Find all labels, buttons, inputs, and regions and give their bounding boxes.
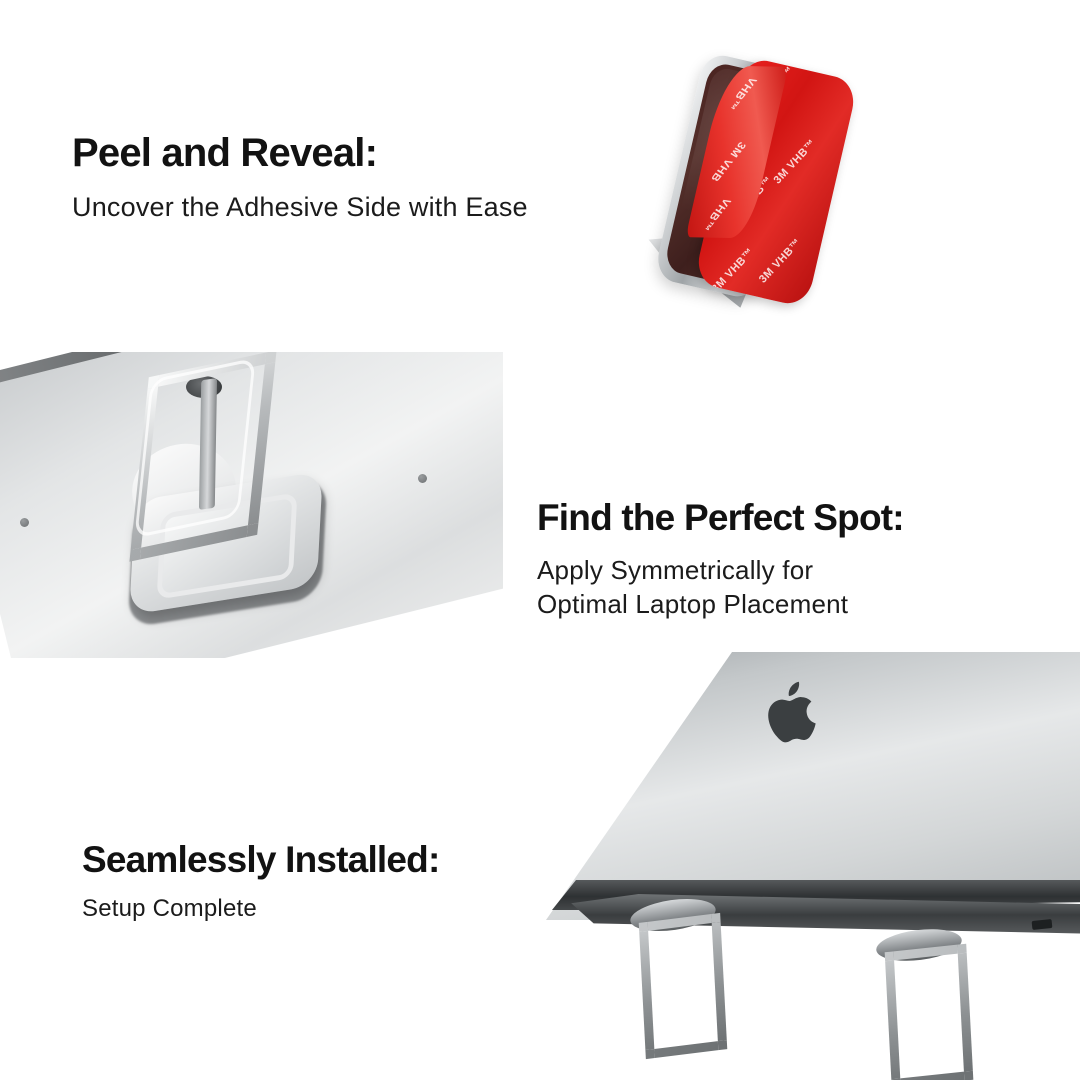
step-peel-subtitle: Uncover the Adhesive Side with Ease — [72, 191, 528, 225]
step-installed-subtitle: Setup Complete — [82, 894, 440, 924]
step-position-subtitle-line2: Optimal Laptop Placement — [537, 588, 904, 621]
stand-leg-deployed-left — [639, 913, 728, 1059]
panel-screw — [20, 518, 29, 527]
step-peel-text-block: Peel and Reveal: Uncover the Adhesive Si… — [72, 132, 528, 225]
step-position-text-block: Find the Perfect Spot: Apply Symmetrical… — [537, 498, 904, 621]
stand-leg-deployed-right — [885, 944, 974, 1080]
infographic-canvas: 3M VHB™3M VHB™3M VHB™3M VHB™3M VHB™ VHB™… — [0, 0, 1080, 1080]
vhb-tape-marking-reversed: VHB™ — [698, 196, 732, 233]
step-installed-text-block: Seamlessly Installed: Setup Complete — [82, 840, 440, 924]
vhb-tape-marking-reversed: 3M VHB — [708, 140, 748, 184]
step-position-subtitle-line1: Apply Symmetrically for — [537, 554, 904, 587]
vhb-tape-marking: 3M VHB™ — [772, 137, 819, 186]
step-installed-heading: Seamlessly Installed: — [82, 840, 440, 880]
stand-support-post — [199, 378, 217, 510]
step-peel-heading: Peel and Reveal: — [72, 132, 528, 175]
vhb-tape-marking: 3M VHB™ — [757, 236, 804, 285]
apple-logo-icon — [763, 679, 822, 745]
macbook-elevated-photo — [520, 648, 1080, 1080]
panel-screw — [418, 474, 427, 483]
laptop-bottom-stand-photo — [0, 352, 503, 658]
step-position-heading: Find the Perfect Spot: — [537, 498, 904, 538]
adhesive-peel-photo: 3M VHB™3M VHB™3M VHB™3M VHB™3M VHB™ VHB™… — [640, 52, 940, 362]
